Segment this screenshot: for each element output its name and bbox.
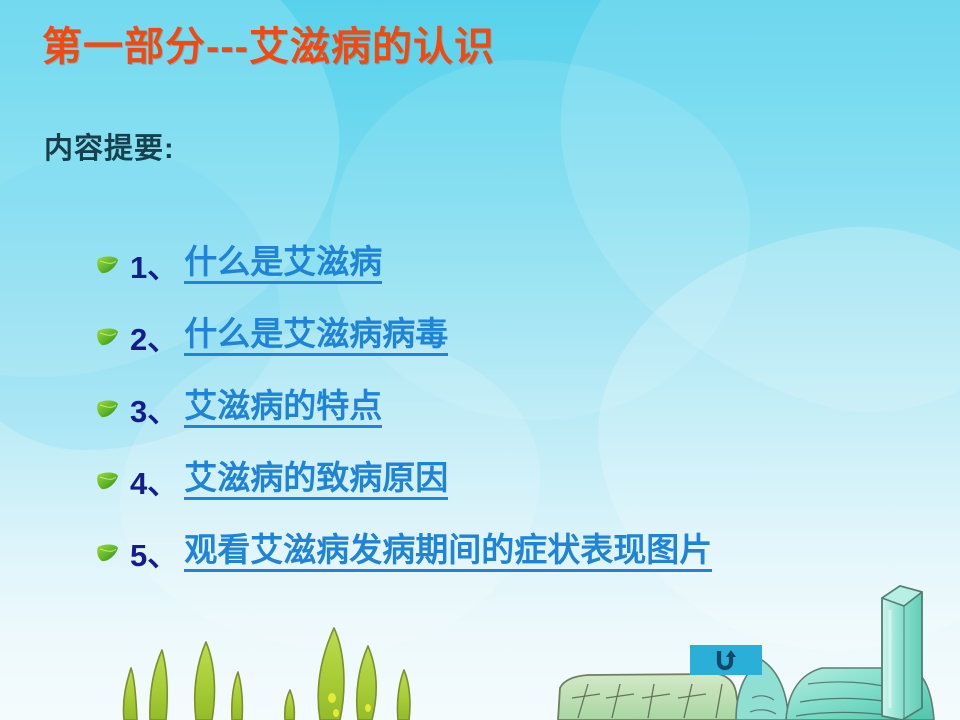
green-leaf-icon [96,255,120,275]
return-button[interactable] [690,645,762,675]
outline-link-what-is-aids[interactable]: 什么是艾滋病 [184,244,382,285]
outline-list: 1、 什么是艾滋病 2、 什么是艾滋病病毒 3、 艾滋病的特点 [96,228,936,588]
slide-title: 第一部分---艾滋病的认识 [42,14,495,72]
grass-cluster-left [123,628,409,720]
list-item[interactable]: 5、 观看艾滋病发病期间的症状表现图片 [96,516,936,588]
content-summary-label: 内容提要: [44,125,175,167]
list-item[interactable]: 4、 艾滋病的致病原因 [96,444,936,516]
outline-link-symptom-images[interactable]: 观看艾滋病发病期间的症状表现图片 [184,532,712,573]
list-item-number: 4、 [130,458,178,503]
presentation-slide: 第一部分---艾滋病的认识 内容提要: 1、 [0,0,960,720]
outline-link-aids-causes[interactable]: 艾滋病的致病原因 [184,460,448,501]
list-item-number: 5、 [130,530,178,575]
crystal-column-shape [882,586,922,720]
list-item[interactable]: 3、 艾滋病的特点 [96,372,936,444]
u-turn-arrow-icon [713,649,739,671]
bottom-decoration-artwork [0,580,960,720]
green-leaf-icon [96,471,120,491]
green-leaf-icon [96,327,120,347]
list-item[interactable]: 2、 什么是艾滋病病毒 [96,300,936,372]
list-item-number: 1、 [130,242,178,287]
outline-link-aids-characteristics[interactable]: 艾滋病的特点 [184,388,382,429]
list-item-number: 2、 [130,314,178,359]
green-leaf-icon [96,399,120,419]
outline-link-what-is-hiv[interactable]: 什么是艾滋病病毒 [184,316,448,357]
list-item[interactable]: 1、 什么是艾滋病 [96,228,936,300]
green-leaf-icon [96,543,120,563]
teal-leaf-shapes [736,660,934,720]
grass-highlights [328,693,371,717]
leaf-pad-shape [558,674,740,720]
list-item-number: 3、 [130,386,178,431]
